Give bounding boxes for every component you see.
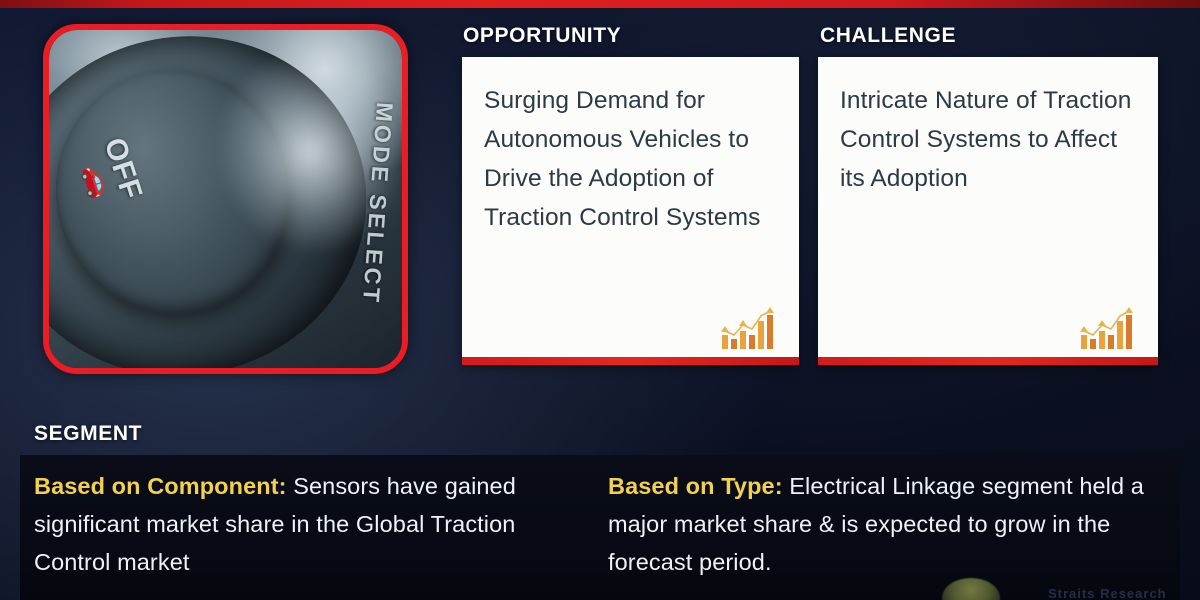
bar-chart-growth-icon [719, 307, 783, 351]
segment-item-type-label: Based on Type: [608, 473, 783, 499]
top-red-rule [0, 0, 1200, 8]
opportunity-card: Surging Demand for Autonomous Vehicles t… [462, 57, 799, 365]
segment-item-type: Based on Type: Electrical Linkage segmen… [608, 467, 1168, 581]
traction-control-photo: 🚗 OFF MODE SELECT [49, 30, 402, 368]
bar-chart-growth-icon [1078, 307, 1142, 351]
traction-control-photo-frame: 🚗 OFF MODE SELECT [43, 24, 408, 374]
corner-logo-text: Straits Research [1048, 586, 1167, 600]
segment-panel: Based on Component: Sensors have gained … [20, 455, 1180, 600]
infographic-root: 🚗 OFF MODE SELECT OPPORTUNITY CHALLENGE … [0, 0, 1200, 600]
challenge-card-text: Intricate Nature of Traction Control Sys… [840, 81, 1136, 198]
opportunity-kicker: OPPORTUNITY [463, 24, 621, 48]
challenge-card-accent [818, 357, 1158, 365]
segment-kicker: SEGMENT [34, 422, 142, 446]
segment-item-component-label: Based on Component: [34, 473, 287, 499]
challenge-kicker: CHALLENGE [820, 24, 956, 48]
opportunity-card-text: Surging Demand for Autonomous Vehicles t… [484, 81, 777, 237]
challenge-card: Intricate Nature of Traction Control Sys… [818, 57, 1158, 365]
segment-item-component: Based on Component: Sensors have gained … [34, 467, 534, 581]
opportunity-card-accent [462, 357, 799, 365]
